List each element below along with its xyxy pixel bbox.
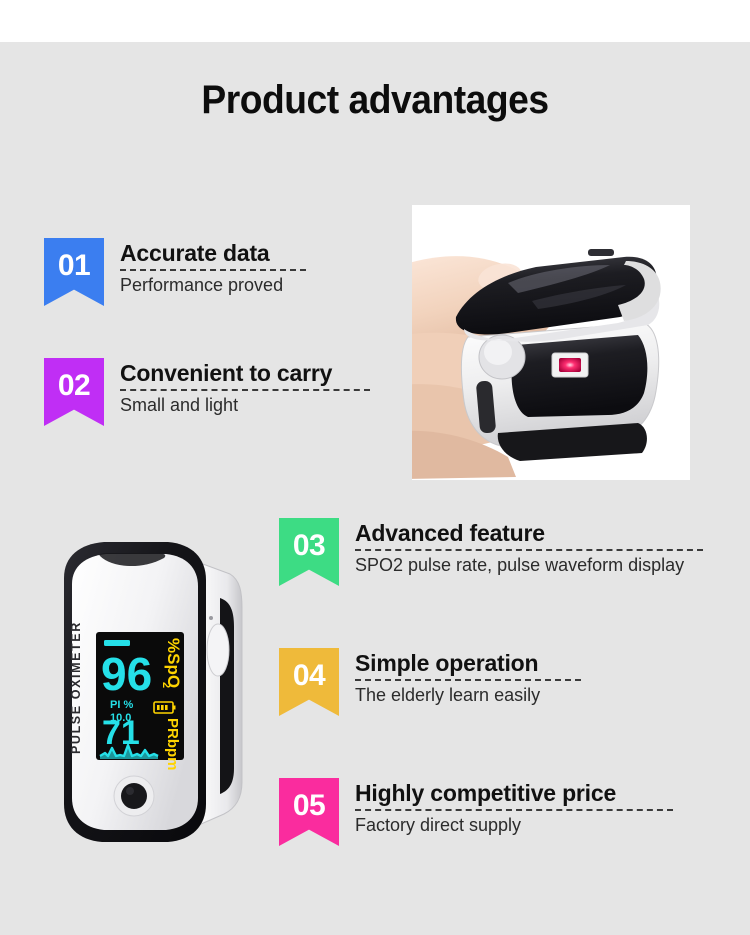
device-brand-label: PULSE OXIMETER [69, 621, 83, 754]
spo2-label-subscript: 2 [160, 682, 172, 688]
product-photo-hand-oximeter [412, 205, 690, 480]
feature-title-05: Highly competitive price [355, 780, 673, 806]
feature-text-05: Highly competitive price Factory direct … [355, 778, 673, 837]
feature-subtitle-04: The elderly learn easily [355, 685, 581, 707]
feature-item-04: 04 Simple operation The elderly learn ea… [279, 648, 581, 716]
spo2-label: %SpO [164, 638, 183, 688]
feature-divider-03 [355, 549, 703, 551]
feature-subtitle-05: Factory direct supply [355, 815, 673, 837]
ribbon-number-02: 02 [58, 358, 90, 401]
feature-divider-04 [355, 679, 581, 681]
feature-text-01: Accurate data Performance proved [120, 238, 306, 297]
feature-title-01: Accurate data [120, 240, 306, 266]
pulse-rate-value: 71 [102, 714, 140, 752]
ribbon-number-05: 05 [293, 778, 325, 821]
feature-item-03: 03 Advanced feature SPO2 pulse rate, pul… [279, 518, 703, 586]
feature-subtitle-02: Small and light [120, 395, 370, 417]
device-power-button [114, 776, 154, 816]
feature-divider-02 [120, 389, 370, 391]
feature-text-04: Simple operation The elderly learn easil… [355, 648, 581, 707]
spo2-value: 96 [101, 648, 152, 700]
ribbon-badge-01: 01 [44, 238, 104, 306]
ribbon-badge-02: 02 [44, 358, 104, 426]
feature-title-04: Simple operation [355, 650, 581, 676]
product-advantages-infographic: Product advantages 01 Accurate data Perf… [0, 0, 750, 935]
ribbon-badge-04: 04 [279, 648, 339, 716]
product-oximeter-device: PULSE OXIMETER 96 %SpO 2 PI % 10.0 [42, 532, 270, 862]
ribbon-number-01: 01 [58, 238, 90, 281]
ribbon-badge-05: 05 [279, 778, 339, 846]
feature-text-02: Convenient to carry Small and light [120, 358, 370, 417]
feature-divider-05 [355, 809, 673, 811]
feature-item-02: 02 Convenient to carry Small and light [44, 358, 370, 426]
product-photo-illustration [412, 205, 690, 480]
feature-text-03: Advanced feature SPO2 pulse rate, pulse … [355, 518, 703, 577]
page-title: Product advantages [26, 78, 724, 123]
device-screen: 96 %SpO 2 PI % 10.0 PRbpm [96, 632, 184, 771]
ribbon-number-03: 03 [293, 518, 325, 561]
feature-title-03: Advanced feature [355, 520, 703, 546]
pi-label: PI % [110, 699, 133, 711]
feature-title-02: Convenient to carry [120, 360, 370, 386]
pr-label: PRbpm [164, 718, 181, 771]
feature-divider-01 [120, 269, 306, 271]
ribbon-badge-03: 03 [279, 518, 339, 586]
signal-bar-icon [104, 640, 130, 646]
feature-subtitle-01: Performance proved [120, 275, 306, 297]
oximeter-device-illustration: PULSE OXIMETER 96 %SpO 2 PI % 10.0 [42, 532, 270, 862]
feature-item-01: 01 Accurate data Performance proved [44, 238, 306, 306]
feature-subtitle-03: SPO2 pulse rate, pulse waveform display [355, 555, 703, 577]
feature-item-05: 05 Highly competitive price Factory dire… [279, 778, 673, 846]
led-sensor-red [559, 358, 581, 372]
ribbon-number-04: 04 [293, 648, 325, 691]
